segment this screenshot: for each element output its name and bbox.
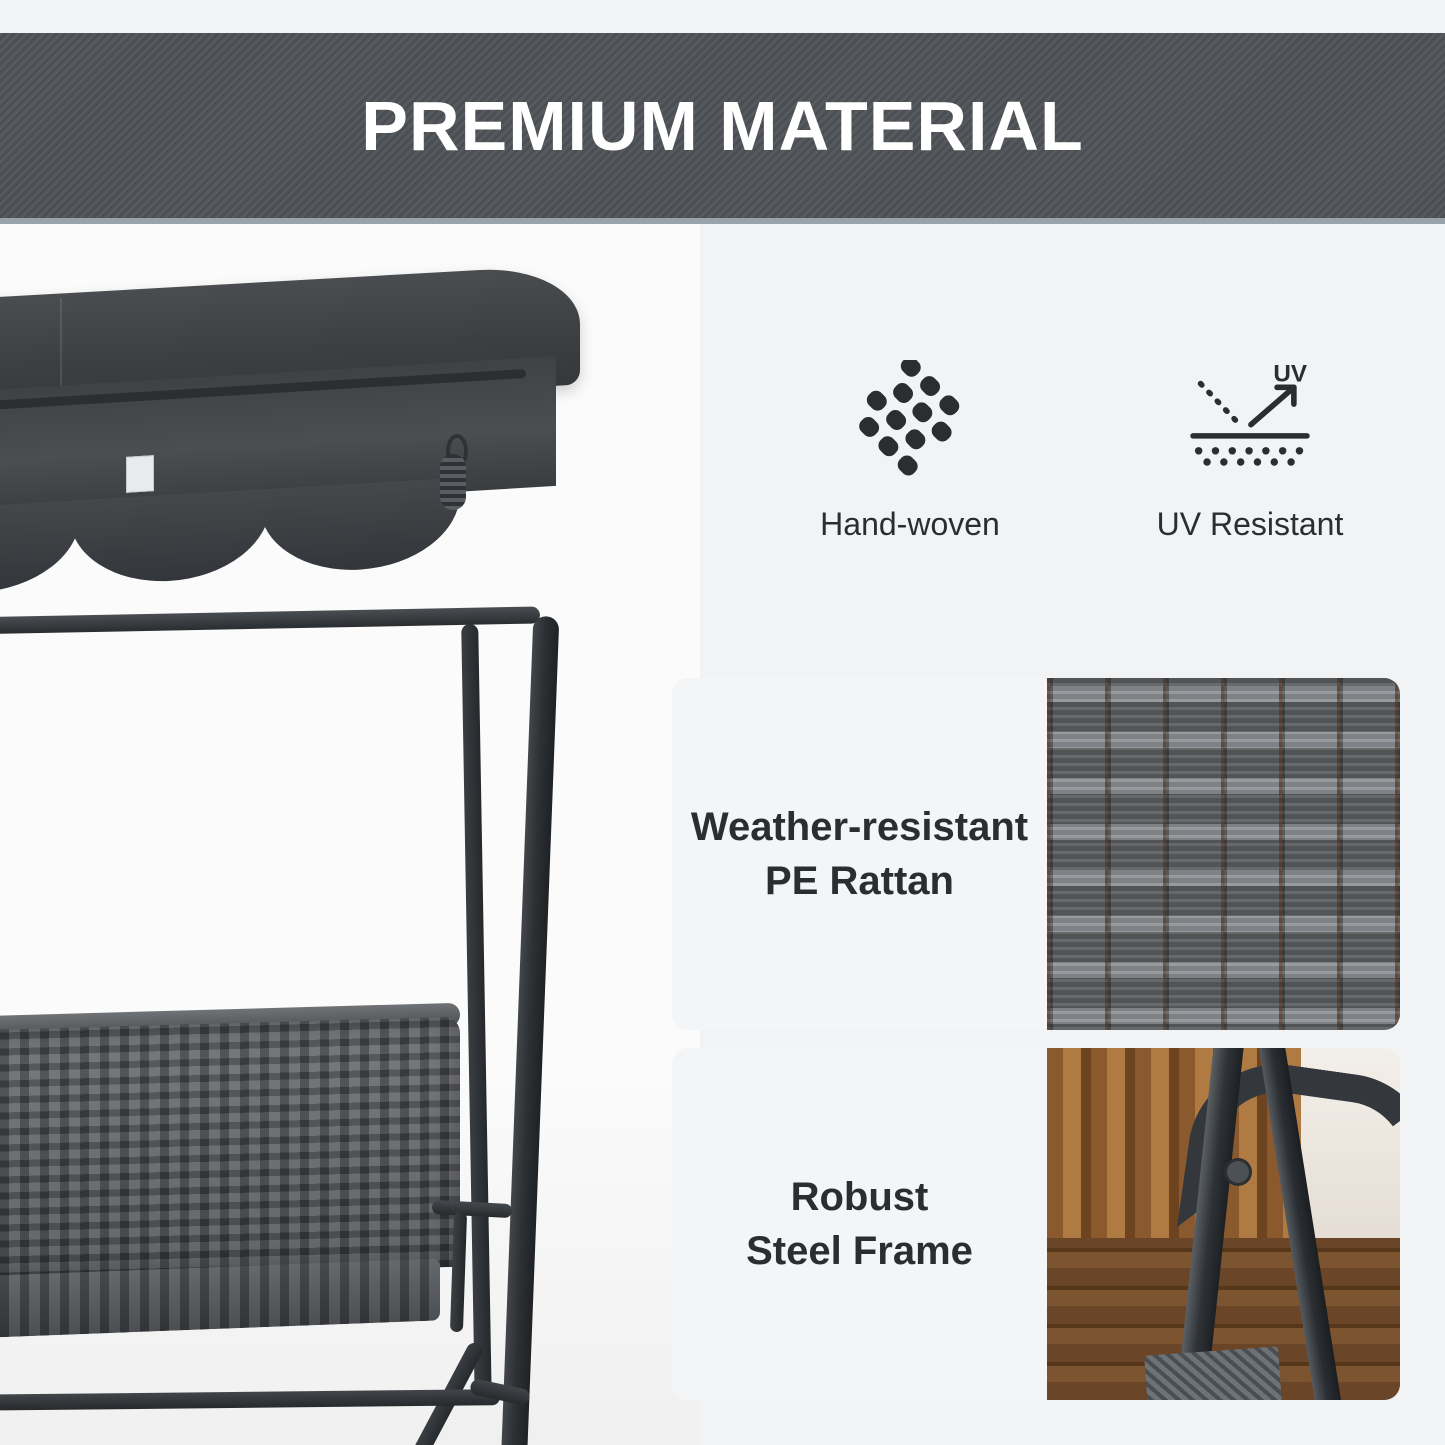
uv-badge-text: UV <box>1273 361 1308 388</box>
card-title-line2: Steel Frame <box>746 1229 973 1273</box>
canopy-seam <box>60 298 62 394</box>
woven-diamond-icon <box>840 360 980 480</box>
card-title: Robust Steel Frame <box>746 1170 973 1278</box>
feature-hand-woven: Hand-woven <box>795 360 1025 590</box>
scallop-2 <box>70 489 270 587</box>
steel-frame-mesh-base <box>1144 1346 1282 1400</box>
header-banner: PREMIUM MATERIAL <box>0 33 1445 218</box>
rattan-weave-texture <box>1047 678 1400 1030</box>
steel-frame-photo <box>1047 1048 1400 1400</box>
feature-icon-row: Hand-woven UV UV Resistant <box>760 360 1400 590</box>
product-photo <box>0 224 700 1445</box>
canopy-spring <box>440 454 466 510</box>
feature-label-uv-resistant: UV Resistant <box>1157 506 1344 543</box>
steel-frame-bolt <box>1227 1161 1249 1183</box>
swing-canopy <box>0 284 600 594</box>
card-title-line2: PE Rattan <box>765 859 954 903</box>
card-image-rattan-weave <box>1047 678 1400 1030</box>
feature-uv-resistant: UV UV Resistant <box>1135 360 1365 590</box>
card-image-steel-frame <box>1047 1048 1400 1400</box>
card-title: Weather-resistant PE Rattan <box>691 800 1028 908</box>
card-text-block: Weather-resistant PE Rattan <box>672 678 1047 1030</box>
rattan-bench <box>0 1024 485 1354</box>
rattan-weft-lines <box>1047 678 1400 1030</box>
product-tag <box>126 455 154 493</box>
card-text-block: Robust Steel Frame <box>672 1048 1047 1400</box>
card-title-line1: Weather-resistant <box>691 805 1028 849</box>
card-robust-steel-frame: Robust Steel Frame <box>672 1048 1400 1400</box>
card-title-line1: Robust <box>791 1175 929 1219</box>
scallop-1 <box>0 500 80 598</box>
scallop-3 <box>260 478 460 576</box>
uv-resistant-icon: UV <box>1180 360 1320 480</box>
page-title: PREMIUM MATERIAL <box>361 91 1083 161</box>
card-weather-resistant-pe-rattan: Weather-resistant PE Rattan <box>672 678 1400 1030</box>
feature-label-hand-woven: Hand-woven <box>820 506 1000 543</box>
bench-backrest <box>0 1017 460 1282</box>
frame-top-bar <box>0 606 540 634</box>
feature-cards: Weather-resistant PE Rattan Robust Steel… <box>672 678 1400 1400</box>
